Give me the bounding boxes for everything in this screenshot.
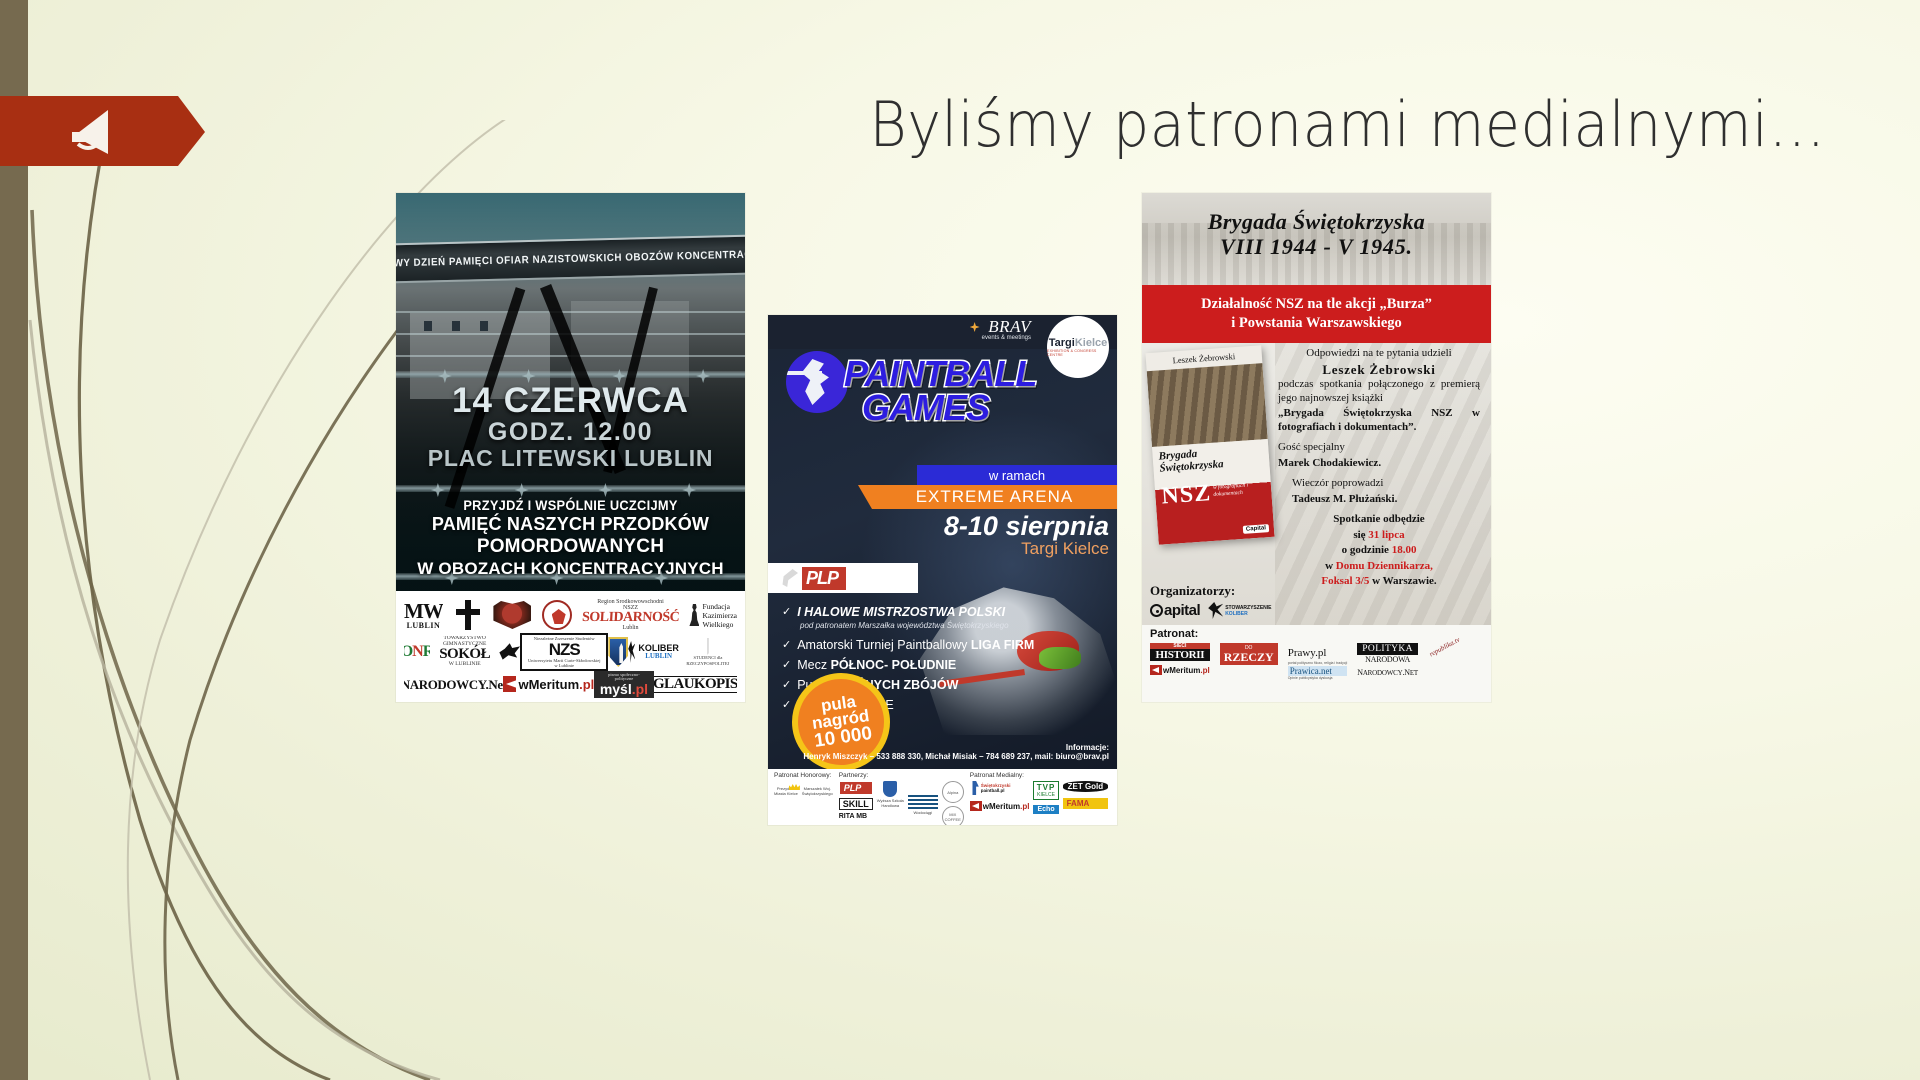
poster-paintball-games[interactable]: BRAV events & meetings TargiKielce EXHIB… [768, 315, 1117, 825]
logo-narodowcy-net: NARODOWCY.Net [404, 678, 503, 691]
logo-studenci-dla-rzeczypospolitej: STUDENCI dla RZECZYPOSPOLITEJ [679, 638, 737, 666]
logo-onr: ONR [404, 644, 430, 660]
poster-2-sponsor-strip: Patronat Honorowy: PrezydentMiasta Kielc… [768, 769, 1117, 825]
poster-2-partners: Partnerzy: PLP SKILL RITA MB Wyższa Szko… [839, 772, 964, 822]
poster-1-logo-row-1: MWLUBLIN Region Środkowowschodni NSZZ SO… [404, 596, 737, 634]
logo-fundacja-kazimierza-wielkiego: FundacjaKazimierzaWielkiego [689, 602, 737, 629]
plp-mark-icon [774, 567, 804, 589]
wmeritum-mark-icon [970, 801, 982, 811]
logo-plp: PLP [768, 563, 918, 593]
poster-2-logo-line1: PAINTBALL [844, 357, 1036, 391]
logo-wmeritum-mini: wMeritum.pl [1150, 665, 1210, 675]
poster-1-logo-row-2: ONR TOWARZYSTWO GIMNASTYCZNE SOKÓŁ W LUB… [404, 634, 737, 670]
poster-1-cta-line4: W OBOZACH KONCENTRACYJNYCH [396, 559, 745, 579]
poster-2-honorary-patrons: Patronat Honorowy: PrezydentMiasta Kielc… [774, 772, 833, 822]
poster-3-body: Leszek Żebrowski Brygada Świętokrzyska N… [1142, 343, 1491, 625]
poster-1-place: PLAC LITEWSKI LUBLIN [396, 445, 745, 472]
logo-nzs: Niezależne Zrzeszenie Studentów NZS Uniw… [520, 633, 608, 671]
logo-glaukopis: GLAUKOPIS [654, 676, 737, 693]
poster-2-bullet-note: pod patronatem Marszałka województwa Świ… [800, 621, 1072, 630]
poster-2-venue: Targi Kielce [944, 540, 1109, 558]
book-cover: Leszek Żebrowski Brygada Świętokrzyska N… [1145, 345, 1274, 545]
logo-tvp-kielce: TVPKIELCE [1033, 781, 1058, 800]
poster-1-logo-strip: MWLUBLIN Region Środkowowschodni NSZZ SO… [396, 591, 745, 702]
poster-2-w-ramach-band: w ramach [917, 465, 1117, 485]
check-icon: ✓ [782, 638, 791, 652]
player-figure-icon [970, 781, 979, 795]
logo-wmeritum: wMeritum.pl [503, 676, 594, 692]
wmeritum-mark-icon [1150, 665, 1162, 675]
poster-2-main: BRAV events & meetings TargiKielce EXHIB… [768, 315, 1117, 769]
page-title: Byliśmy patronami medialnymi… [426, 86, 1870, 164]
logo-zet-gold: ZET Gold [1063, 781, 1109, 792]
logo-polityka-narodowa: POLITYKA NARODOWA NARODOWCY.NET [1357, 643, 1418, 677]
poster-1-gate-banner: NARODOWY DZIEŃ PAMIĘCI OFIAR NAZISTOWSKI… [396, 235, 745, 284]
logo-seal [542, 600, 572, 630]
poster-3-title: Brygada Świętokrzyska VIII 1944 - V 1945… [1142, 209, 1491, 259]
poster-1-date: 14 CZERWCA [396, 381, 745, 421]
poster-1-photo: NARODOWY DZIEŃ PAMIĘCI OFIAR NAZISTOWSKI… [396, 193, 745, 591]
logo-prawy-pl: Prawy.pl portal polityczno filozo, relig… [1288, 643, 1348, 680]
eagle-icon [499, 642, 520, 662]
logo-brav: BRAV events & meetings [982, 319, 1031, 341]
logo-solidarnosc: Region Środkowowschodni NSZZ SOLIDARNOŚĆ… [582, 599, 679, 631]
polish-flag-icon [707, 638, 709, 655]
poster-1-banner-text: NARODOWY DZIEŃ PAMIĘCI OFIAR NAZISTOWSKI… [396, 248, 745, 271]
poster-1-cta-line2: PAMIĘĆ NASZYCH PRZODKÓW [396, 514, 745, 535]
poster-national-remembrance-day[interactable]: NARODOWY DZIEŃ PAMIĘCI OFIAR NAZISTOWSKI… [396, 193, 745, 702]
logo-wsh-kielce: Wyższa SzkołaHandlowa [877, 781, 904, 808]
poster-1-time: GODZ. 12.00 [396, 418, 745, 447]
list-item: ✓ I HALOWE MISTRZOSTWA POLSKI [782, 605, 1072, 619]
poster-2-logo: PAINTBALL GAMES [844, 357, 1036, 425]
logo-sokol: TOWARZYSTWO GIMNASTYCZNE SOKÓŁ W LUBLINI… [430, 636, 499, 668]
hummingbird-icon [628, 641, 635, 663]
check-icon: ✓ [782, 658, 791, 672]
logo-koliber-lublin: KOLIBERLUBLIN [628, 641, 679, 663]
poster-3-organizers: Organizatorzy: apital STOWARZYSZENIEKOLI… [1150, 583, 1272, 619]
poster-2-date: 8-10 sierpnia [944, 513, 1109, 540]
logo-sieci-historii: SIECIHISTORII [1150, 643, 1210, 661]
logo-eagle-badge [493, 601, 531, 629]
slide-canvas: Byliśmy patronami medialnymi… NARODOWY D… [0, 0, 1920, 1080]
poster-3-header: Brygada Świętokrzyska VIII 1944 - V 1945… [1142, 193, 1491, 285]
logo-skill-mini: SKILL [839, 798, 873, 810]
poster-1-cta-line3: POMORDOWANYCH [396, 536, 745, 558]
poster-1-cta-line1: PRZYJDŹ I WSPÓLNIE UCZCIJMY [405, 498, 737, 513]
list-item: ✓ Amatorski Turniej Paintballowy LIGA FI… [782, 638, 1072, 652]
check-icon: ✓ [782, 698, 791, 712]
logo-military-shield [608, 637, 628, 667]
poster-3-red-banner: Działalność NSZ na tle akcji „Burza” i P… [1142, 285, 1491, 343]
poster-2-contact-info: Informacje: Henryk Miszczyk – 533 888 33… [803, 743, 1109, 761]
check-icon: ✓ [782, 605, 791, 619]
paintball-gun-icon [786, 371, 822, 375]
paintball-globe-icon [786, 351, 848, 413]
hummingbird-icon [1208, 602, 1223, 619]
poster-2-extreme-arena-band: EXTREME ARENA [872, 485, 1117, 509]
logo-echo-dnia: Echo [1033, 805, 1058, 814]
logo-mw-lublin: MWLUBLIN [404, 601, 443, 630]
list-item: ✓ Mecz PÓŁNOC- POŁUDNIE [782, 658, 1072, 672]
logo-rita-mb-mini: RITA MB [839, 813, 873, 820]
poster-2-logo-line2: GAMES [862, 391, 1036, 425]
logo-plp-mini: PLP [839, 781, 873, 795]
logo-wmeritum-mini: wMeritum.pl [970, 801, 1030, 811]
logo-do-rzeczy: DORZECZY [1220, 643, 1278, 665]
poster-brygada-swietokrzyska[interactable]: Brygada Świętokrzyska VIII 1944 - V 1945… [1142, 193, 1491, 702]
logo-wodociagi-kieleckie: Wodociągi [908, 793, 938, 815]
ribbon-back-arrow[interactable] [0, 96, 205, 166]
poster-2-date-block: 8-10 sierpnia Targi Kielce [944, 513, 1109, 558]
check-icon: ✓ [782, 678, 791, 692]
logo-alpina: Alpina [942, 781, 964, 803]
logo-radio-fama: FAMA [1063, 798, 1109, 809]
logo-capital: apital [1150, 602, 1200, 619]
poster-3-text: Odpowiedzi na te pytania udzieli Leszek … [1278, 347, 1480, 591]
logo-mysl-pl: pismo społeczno-polityczne myśl.pl [594, 671, 653, 698]
logo-prezydent-kielce: PrezydentMiasta Kielce [774, 781, 798, 796]
book-cover-photo [1147, 363, 1268, 447]
wmeritum-mark-icon [503, 676, 516, 692]
pawn-icon [689, 604, 699, 626]
logo-stowarzyszenie-koliber: STOWARZYSZENIEKOLIBER [1208, 602, 1271, 619]
poster-1-call-to-action: PRZYJDŹ I WSPÓLNIE UCZCIJMY PAMIĘĆ NASZY… [396, 498, 745, 579]
logo-targi-kielce: TargiKielce EXHIBITION & CONGRESS CENTRE [1047, 316, 1109, 378]
capital-mark-icon [1150, 604, 1163, 617]
poster-2-media-patrons: Patronat Medialny: Świętokrzyskipaintbal… [970, 772, 1108, 822]
logo-paintball-serwis: Świętokrzyskipaintball.pl [970, 781, 1030, 795]
poster-3-patrons: Patronat: SIECIHISTORII wMeritum.pl DORZ… [1142, 625, 1491, 702]
logo-mix-coffee: MIXCOFFEE [942, 806, 964, 825]
poster-1-headline: 14 CZERWCA GODZ. 12.00 PLAC LITEWSKI LUB… [396, 381, 745, 472]
logo-marszalek-swietokrzyskie: Marszałek Woj.Świętokrzyskiego [802, 781, 833, 796]
poster-1-logo-row-3: NARODOWCY.Net wMeritum.pl pismo społeczn… [404, 670, 737, 698]
cross-icon [453, 598, 483, 632]
